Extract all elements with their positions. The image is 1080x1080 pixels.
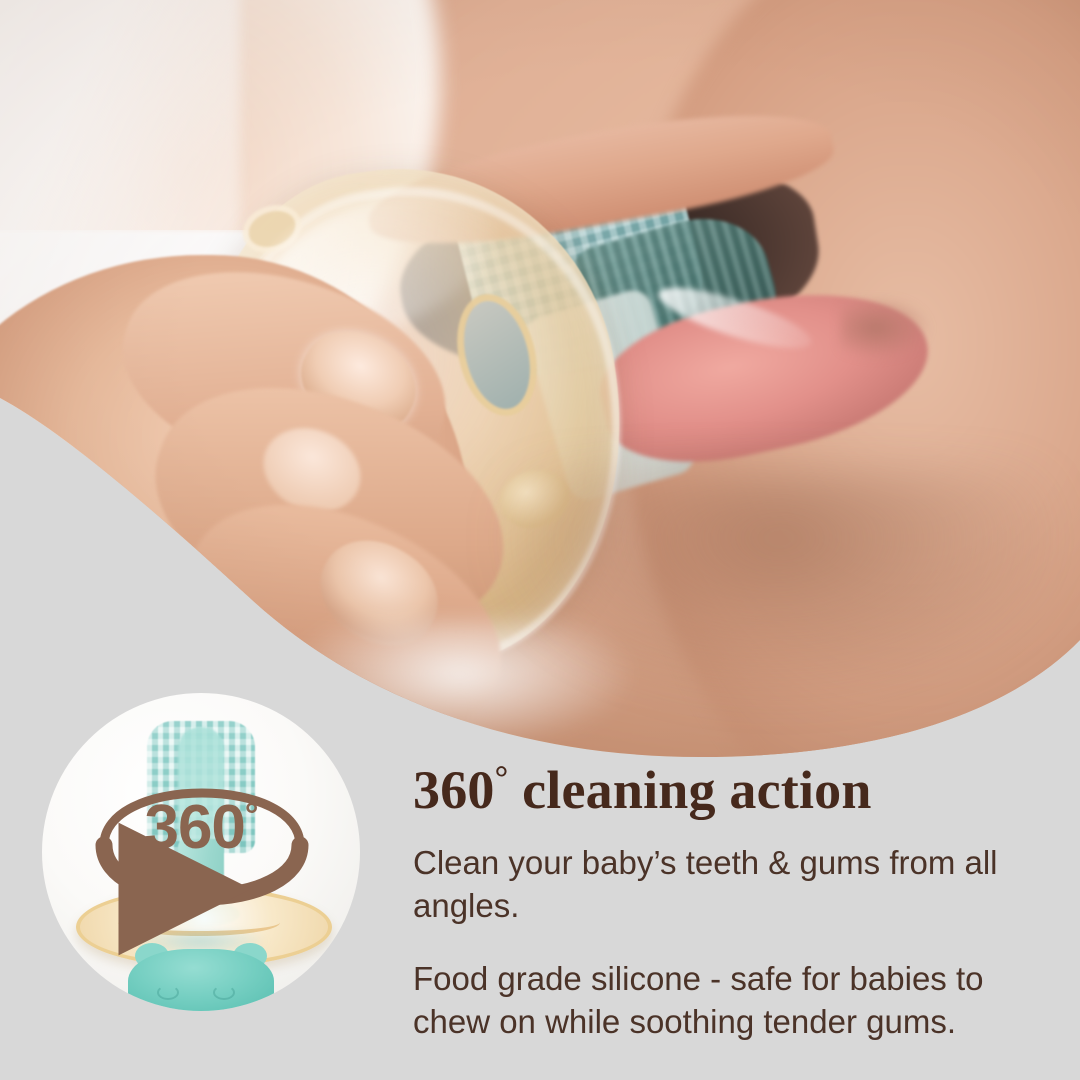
hero-photo xyxy=(0,0,1080,760)
badge-degree-symbol: ° xyxy=(245,796,258,834)
headline-number: 360 xyxy=(413,760,495,820)
headline-rest: cleaning action xyxy=(508,760,871,820)
headline: 360° cleaning action xyxy=(413,762,1053,818)
product-badge: 360° xyxy=(42,693,360,1011)
paragraph-material: Food grade silicone - safe for babies to… xyxy=(413,958,1053,1044)
hero-photo-image xyxy=(0,0,1080,760)
copy-block: 360° cleaning action Clean your baby’s t… xyxy=(413,762,1053,1044)
promo-card: 360° 360° cleaning action Clean your bab… xyxy=(0,0,1080,1080)
paragraph-benefit: Clean your baby’s teeth & gums from all … xyxy=(413,842,1053,928)
badge-360-label: 360° xyxy=(42,797,360,859)
photo-vignette xyxy=(0,0,1080,760)
headline-degree-symbol: ° xyxy=(495,760,509,797)
badge-360-number: 360 xyxy=(144,793,244,862)
